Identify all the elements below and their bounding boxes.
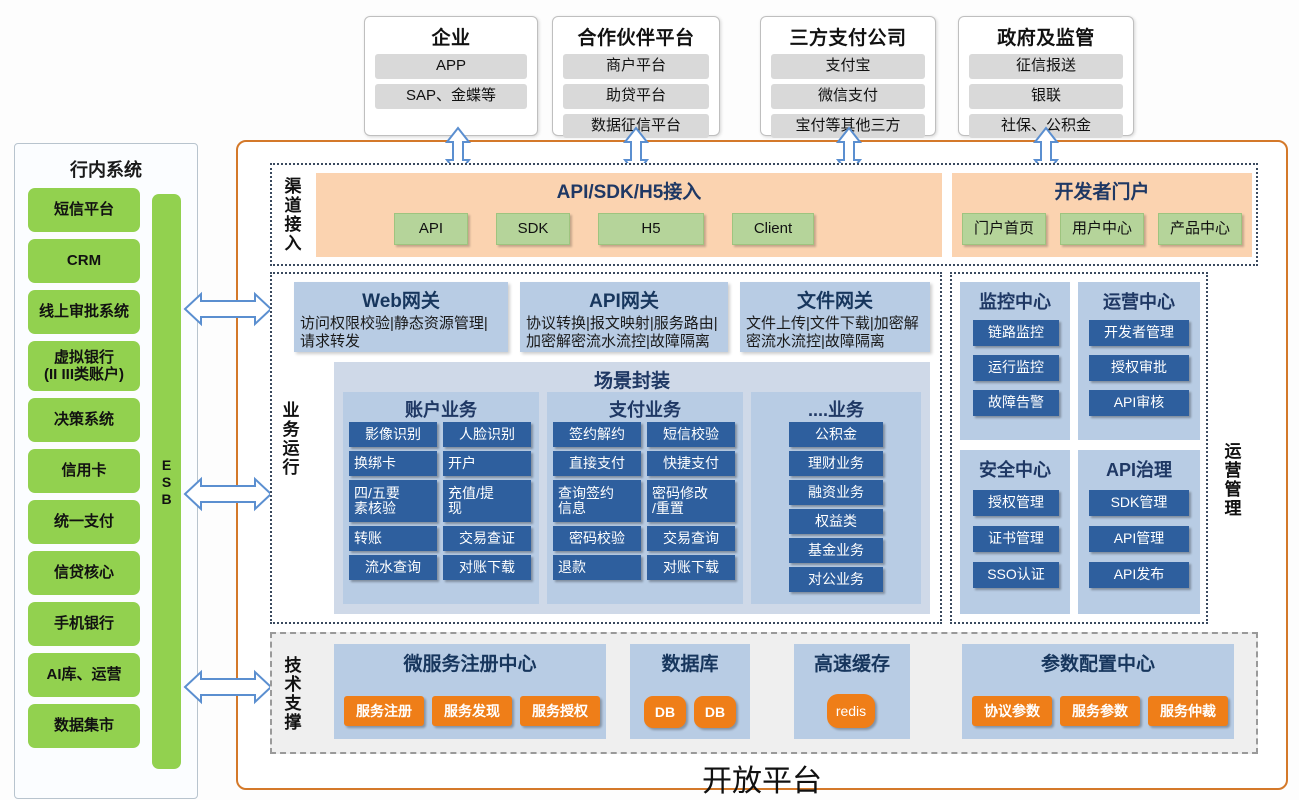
- channel-item-h5[interactable]: H5: [598, 213, 704, 245]
- esb-letter: S: [162, 474, 171, 490]
- bank-system-item[interactable]: 信贷核心: [28, 551, 140, 595]
- business-item[interactable]: 签约解约: [553, 422, 641, 447]
- business-item[interactable]: 理财业务: [789, 451, 883, 476]
- tech-card-title: 参数配置中心: [962, 644, 1234, 676]
- ops-item[interactable]: 运行监控: [973, 355, 1059, 381]
- portal-item-user-center[interactable]: 用户中心: [1060, 213, 1144, 245]
- business-item[interactable]: 直接支付: [553, 451, 641, 476]
- ops-card-monitoring-center: 监控中心 链路监控 运行监控 故障告警: [960, 282, 1070, 440]
- business-item[interactable]: 转账: [349, 526, 437, 551]
- business-group-title: 支付业务: [547, 392, 743, 422]
- business-item[interactable]: 权益类: [789, 509, 883, 534]
- business-item[interactable]: 交易查询: [647, 526, 735, 551]
- channel-item-client[interactable]: Client: [732, 213, 814, 245]
- ops-item[interactable]: 故障告警: [973, 390, 1059, 416]
- external-box-title: 三方支付公司: [771, 23, 925, 50]
- portal-item-product-center[interactable]: 产品中心: [1158, 213, 1242, 245]
- esb-letter: E: [162, 457, 171, 473]
- bank-system-item[interactable]: 短信平台: [28, 188, 140, 232]
- external-item[interactable]: 征信报送: [969, 54, 1123, 79]
- gateway-title: 文件网关: [746, 286, 924, 313]
- ops-item[interactable]: API发布: [1089, 562, 1189, 588]
- external-item[interactable]: APP: [375, 54, 527, 79]
- architecture-diagram: 企业 APP SAP、金蝶等 合作伙伴平台 商户平台 助贷平台 数据征信平台 三…: [0, 0, 1299, 799]
- horizontal-double-arrow-icon: [183, 473, 273, 515]
- esb-letter: B: [161, 491, 171, 507]
- ops-item[interactable]: 授权管理: [973, 490, 1059, 516]
- ops-card-title: 监控中心: [960, 282, 1070, 314]
- external-box-partner-platform: 合作伙伴平台 商户平台 助贷平台 数据征信平台: [552, 16, 720, 136]
- operations-management-label: 运营 管理: [1216, 410, 1250, 550]
- business-group-payment: 支付业务 签约解约 直接支付 查询签约 信息 密码校验 退款 短信校验 快捷支付…: [547, 392, 743, 604]
- tech-item-db[interactable]: DB: [694, 696, 736, 728]
- external-item[interactable]: 商户平台: [563, 54, 709, 79]
- business-item[interactable]: 换绑卡: [349, 451, 437, 476]
- developer-portal-panel: 开发者门户 门户首页 用户中心 产品中心: [952, 173, 1252, 257]
- ops-card-operation-center: 运营中心 开发者管理 授权审批 API审核: [1078, 282, 1200, 440]
- tech-item[interactable]: 服务仲裁: [1148, 696, 1228, 726]
- ops-card-title: 安全中心: [960, 450, 1070, 482]
- external-box-title: 企业: [375, 23, 527, 50]
- tech-card-title: 高速缓存: [794, 644, 910, 676]
- bank-system-item[interactable]: CRM: [28, 239, 140, 283]
- bank-system-item[interactable]: 数据集市: [28, 704, 140, 748]
- scene-encapsulation-title: 场景封装: [334, 362, 930, 393]
- tech-item-db[interactable]: DB: [644, 696, 686, 728]
- external-box-title: 政府及监管: [969, 23, 1123, 50]
- tech-card-title: 数据库: [630, 644, 750, 676]
- external-item[interactable]: SAP、金蝶等: [375, 84, 527, 109]
- bank-system-item[interactable]: 信用卡: [28, 449, 140, 493]
- bank-system-item[interactable]: 手机银行: [28, 602, 140, 646]
- business-item[interactable]: 四/五要 素核验: [349, 480, 437, 522]
- tech-item[interactable]: 服务授权: [520, 696, 600, 726]
- technical-support-section: 技术 支撑 微服务注册中心 服务注册 服务发现 服务授权 数据库 DB DB 高…: [270, 632, 1258, 754]
- external-box-enterprise: 企业 APP SAP、金蝶等: [364, 16, 538, 136]
- bank-system-item[interactable]: 决策系统: [28, 398, 140, 442]
- business-operation-section: 业务 运行 Web网关 访问权限校验|静态资源管理|请求转发 API网关 协议转…: [270, 272, 942, 624]
- tech-item[interactable]: 协议参数: [972, 696, 1052, 726]
- external-box-title: 合作伙伴平台: [563, 23, 709, 50]
- gateway-desc: 访问权限校验|静态资源管理|请求转发: [300, 315, 502, 351]
- channel-item-api[interactable]: API: [394, 213, 468, 245]
- ops-item[interactable]: 开发者管理: [1089, 320, 1189, 346]
- gateway-title: API网关: [526, 286, 722, 313]
- business-item[interactable]: 开户: [443, 451, 531, 476]
- external-item[interactable]: 支付宝: [771, 54, 925, 79]
- channel-access-label: 渠道 接入: [276, 169, 310, 261]
- bank-system-item[interactable]: 虚拟银行 (II III类账户): [28, 341, 140, 391]
- scene-encapsulation-panel: 场景封装 账户业务 影像识别 换绑卡 四/五要 素核验 转账 流水查询 人脸识别…: [334, 362, 930, 614]
- business-item[interactable]: 人脸识别: [443, 422, 531, 447]
- developer-portal-title: 开发者门户: [952, 173, 1252, 204]
- gateway-desc: 协议转换|报文映射|服务路由|加密解密流水流控|故障隔离: [526, 315, 722, 351]
- ops-item[interactable]: 证书管理: [973, 526, 1059, 552]
- ops-item[interactable]: API管理: [1089, 526, 1189, 552]
- horizontal-double-arrow-icon: [183, 288, 273, 330]
- tech-item[interactable]: 服务参数: [1060, 696, 1140, 726]
- tech-card-database: 数据库 DB DB: [630, 644, 750, 739]
- api-sdk-h5-panel: API/SDK/H5接入 API SDK H5 Client: [316, 173, 942, 257]
- tech-item-redis[interactable]: redis: [827, 694, 875, 728]
- ops-card-title: API治理: [1078, 450, 1200, 482]
- gateway-desc: 文件上传|文件下载|加密解密流水流控|故障隔离: [746, 315, 924, 351]
- tech-card-cache: 高速缓存 redis: [794, 644, 910, 739]
- business-item[interactable]: 公积金: [789, 422, 883, 447]
- bank-panel-title: 行内系统: [15, 144, 197, 182]
- technical-support-label: 技术 支撑: [276, 642, 310, 746]
- ops-card-title: 运营中心: [1078, 282, 1200, 314]
- gateway-card-api: API网关 协议转换|报文映射|服务路由|加密解密流水流控|故障隔离: [520, 282, 728, 352]
- channel-access-section: 渠道 接入 API/SDK/H5接入 API SDK H5 Client 开发者…: [270, 163, 1258, 266]
- business-item[interactable]: 融资业务: [789, 480, 883, 505]
- business-item[interactable]: 对公业务: [789, 567, 883, 592]
- ops-item[interactable]: 授权审批: [1089, 355, 1189, 381]
- gateway-title: Web网关: [300, 286, 502, 313]
- business-item[interactable]: 查询签约 信息: [553, 480, 641, 522]
- business-item[interactable]: 交易查证: [443, 526, 531, 551]
- business-item[interactable]: 密码修改 /重置: [647, 480, 735, 522]
- business-group-other: ....业务 公积金 理财业务 融资业务 权益类 基金业务 对公业务: [751, 392, 921, 604]
- tech-card-title: 微服务注册中心: [334, 644, 606, 676]
- bank-internal-systems-panel: 行内系统 短信平台 CRM 线上审批系统 虚拟银行 (II III类账户) 决策…: [14, 143, 198, 799]
- tech-item[interactable]: 服务注册: [344, 696, 424, 726]
- business-item[interactable]: 基金业务: [789, 538, 883, 563]
- external-item[interactable]: 微信支付: [771, 84, 925, 109]
- bank-system-item[interactable]: 统一支付: [28, 500, 140, 544]
- api-sdk-h5-title: API/SDK/H5接入: [316, 173, 942, 204]
- tech-card-parameter-config-center: 参数配置中心 协议参数 服务参数 服务仲裁: [962, 644, 1234, 739]
- ops-item[interactable]: SDK管理: [1089, 490, 1189, 516]
- ops-card-security-center: 安全中心 授权管理 证书管理 SSO认证: [960, 450, 1070, 614]
- gateway-card-file: 文件网关 文件上传|文件下载|加密解密流水流控|故障隔离: [740, 282, 930, 352]
- tech-item[interactable]: 服务发现: [432, 696, 512, 726]
- external-box-third-party-payment: 三方支付公司 支付宝 微信支付 宝付等其他三方: [760, 16, 936, 136]
- business-item[interactable]: 短信校验: [647, 422, 735, 447]
- gateway-card-web: Web网关 访问权限校验|静态资源管理|请求转发: [294, 282, 508, 352]
- operations-management-section: 监控中心 链路监控 运行监控 故障告警 运营中心 开发者管理 授权审批 API审…: [950, 272, 1208, 624]
- bank-system-item[interactable]: 线上审批系统: [28, 290, 140, 334]
- business-group-title: ....业务: [751, 392, 921, 422]
- external-box-government-regulator: 政府及监管 征信报送 银联 社保、公积金: [958, 16, 1134, 136]
- esb-bus: E S B: [152, 194, 181, 769]
- business-item[interactable]: 流水查询: [349, 555, 437, 580]
- external-item[interactable]: 助贷平台: [563, 84, 709, 109]
- business-group-account: 账户业务 影像识别 换绑卡 四/五要 素核验 转账 流水查询 人脸识别 开户 充…: [343, 392, 539, 604]
- ops-item[interactable]: SSO认证: [973, 562, 1059, 588]
- portal-item-home[interactable]: 门户首页: [962, 213, 1046, 245]
- ops-card-api-governance: API治理 SDK管理 API管理 API发布: [1078, 450, 1200, 614]
- ops-item[interactable]: API审核: [1089, 390, 1189, 416]
- business-item[interactable]: 密码校验: [553, 526, 641, 551]
- business-item[interactable]: 充值/提 现: [443, 480, 531, 522]
- ops-item[interactable]: 链路监控: [973, 320, 1059, 346]
- horizontal-double-arrow-icon: [183, 666, 273, 708]
- business-operation-label: 业务 运行: [274, 374, 308, 504]
- tech-card-microservice-registry: 微服务注册中心 服务注册 服务发现 服务授权: [334, 644, 606, 739]
- business-item[interactable]: 快捷支付: [647, 451, 735, 476]
- business-item[interactable]: 退款: [553, 555, 641, 580]
- external-item[interactable]: 银联: [969, 84, 1123, 109]
- business-item[interactable]: 影像识别: [349, 422, 437, 447]
- channel-item-sdk[interactable]: SDK: [496, 213, 570, 245]
- business-item[interactable]: 对账下载: [443, 555, 531, 580]
- platform-title: 开放平台: [236, 756, 1288, 800]
- bank-system-item[interactable]: AI库、运营: [28, 653, 140, 697]
- business-item[interactable]: 对账下载: [647, 555, 735, 580]
- bank-systems-list: 短信平台 CRM 线上审批系统 虚拟银行 (II III类账户) 决策系统 信用…: [28, 188, 140, 755]
- business-group-title: 账户业务: [343, 392, 539, 422]
